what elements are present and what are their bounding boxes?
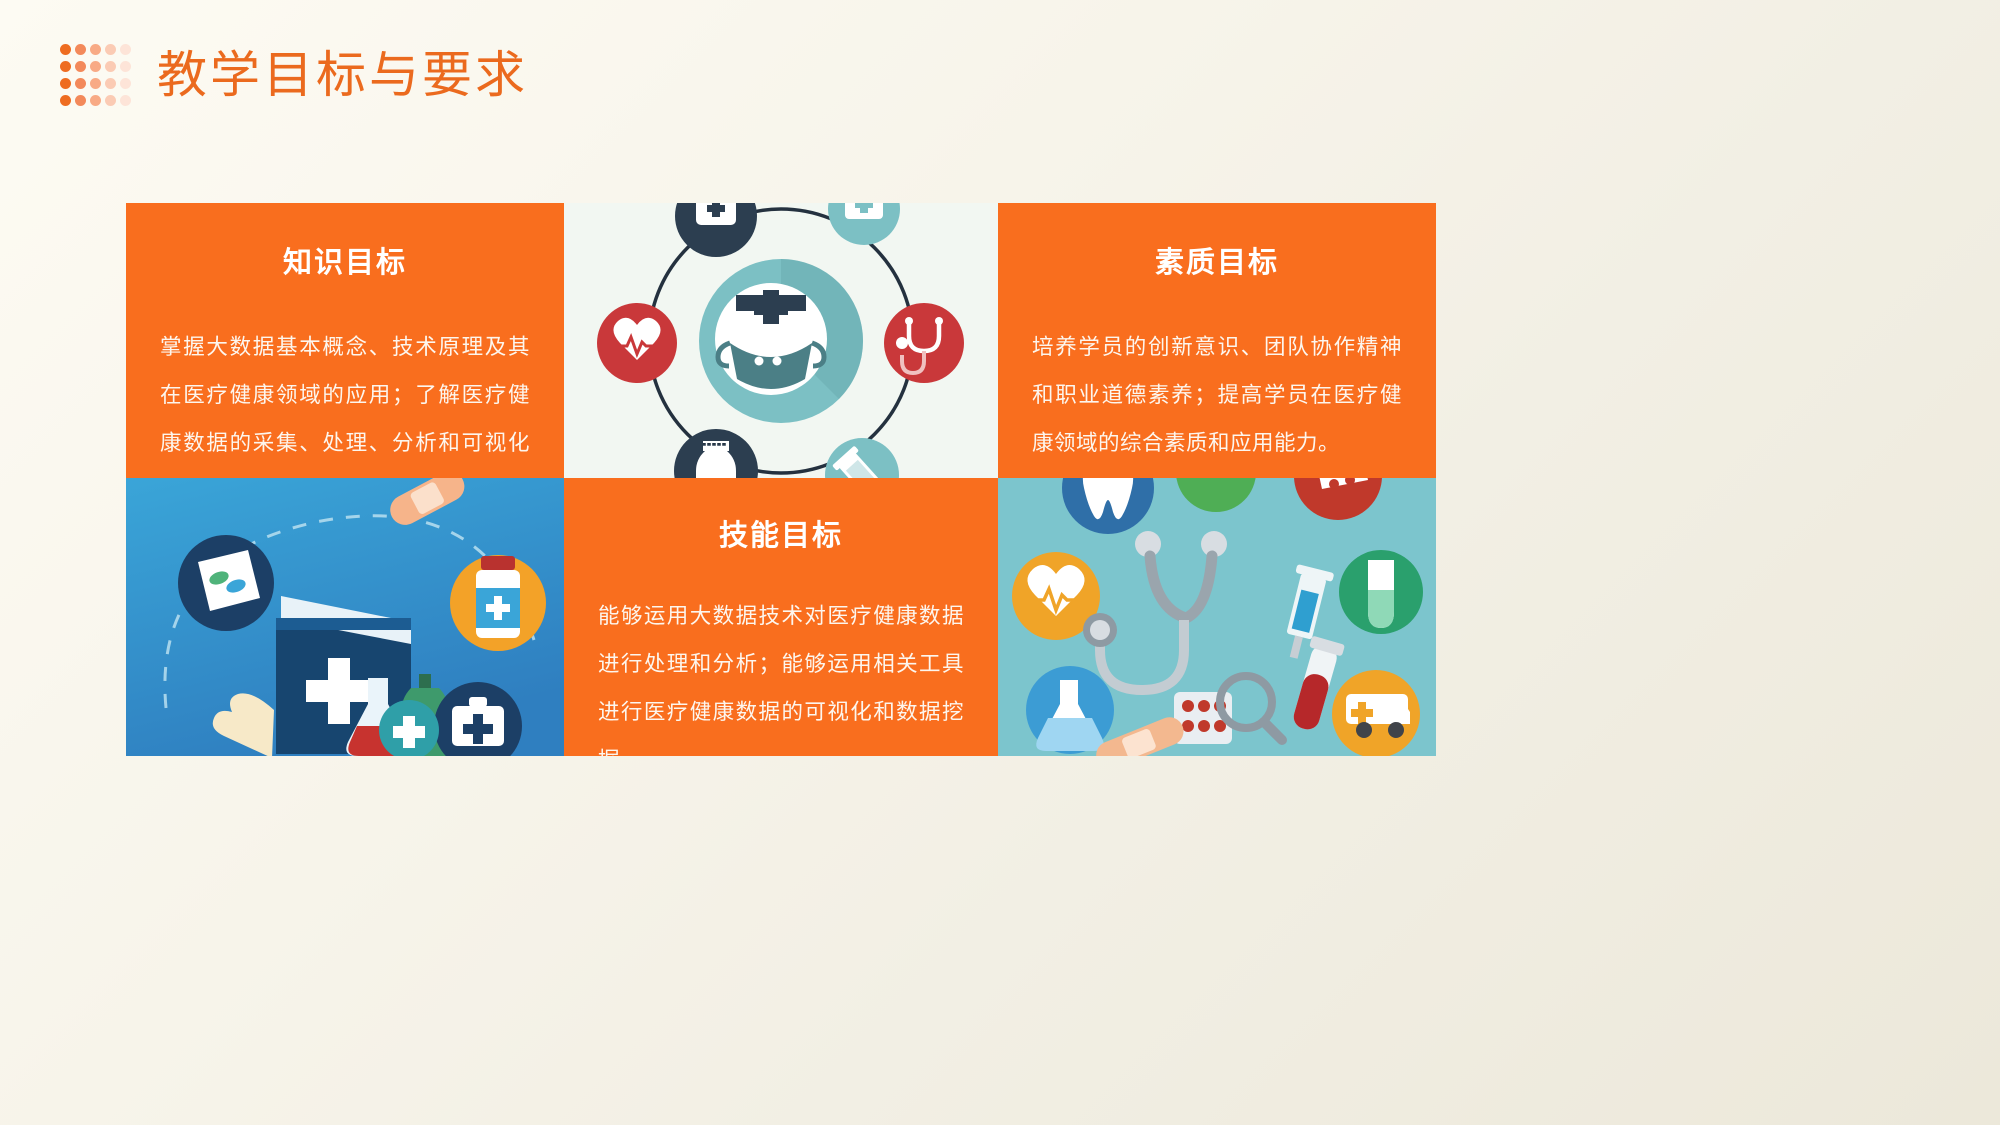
dot-grid-decoration (60, 41, 135, 109)
card-title-skill: 技能目标 (719, 512, 843, 554)
grid-dot (105, 44, 116, 55)
grid-dot (60, 78, 71, 89)
grid-dot (90, 78, 101, 89)
grid-dot (75, 78, 86, 89)
slide-header: 教学目标与要求 (60, 32, 528, 118)
grid-dot (90, 44, 101, 55)
card-title-quality: 素质目标 (1155, 239, 1279, 281)
grid-dot (75, 95, 86, 106)
nurse-circle-illustration (564, 203, 998, 478)
card-quality-objective[interactable]: 素质目标 培养学员的创新意识、团队协作精神和职业道德素养；提高学员在医疗健康领域… (998, 203, 1436, 478)
grid-dot (90, 61, 101, 72)
card-title-knowledge: 知识目标 (283, 239, 407, 281)
medical-tools-illustration (998, 478, 1436, 756)
grid-dot (105, 78, 116, 89)
grid-dot (60, 44, 71, 55)
illustration-medical-tools (998, 478, 1436, 756)
card-knowledge-objective[interactable]: 知识目标 掌握大数据基本概念、技术原理及其在医疗健康领域的应用；了解医疗健康数据… (126, 203, 564, 478)
medical-book-illustration (126, 478, 564, 756)
card-body-knowledge: 掌握大数据基本概念、技术原理及其在医疗健康领域的应用；了解医疗健康数据的采集、处… (160, 323, 530, 478)
illustration-nurse-wheel (564, 203, 998, 478)
grid-dot (75, 61, 86, 72)
grid-dot (120, 44, 131, 55)
card-body-skill: 能够运用大数据技术对医疗健康数据进行处理和分析；能够运用相关工具进行医疗健康数据… (598, 592, 964, 756)
grid-dot (90, 95, 101, 106)
grid-dot (120, 61, 131, 72)
grid-dot (75, 44, 86, 55)
grid-dot (60, 95, 71, 106)
card-skill-objective[interactable]: 技能目标 能够运用大数据技术对医疗健康数据进行处理和分析；能够运用相关工具进行医… (564, 478, 998, 756)
grid-dot (120, 78, 131, 89)
grid-dot (105, 61, 116, 72)
illustration-medical-book (126, 478, 564, 756)
grid-dot (120, 95, 131, 106)
grid-dot (105, 95, 116, 106)
grid-dot (60, 61, 71, 72)
page-title: 教学目标与要求 (157, 50, 528, 100)
card-body-quality: 培养学员的创新意识、团队协作精神和职业道德素养；提高学员在医疗健康领域的综合素质… (1032, 323, 1402, 467)
objectives-grid: 知识目标 掌握大数据基本概念、技术原理及其在医疗健康领域的应用；了解医疗健康数据… (126, 203, 1436, 756)
